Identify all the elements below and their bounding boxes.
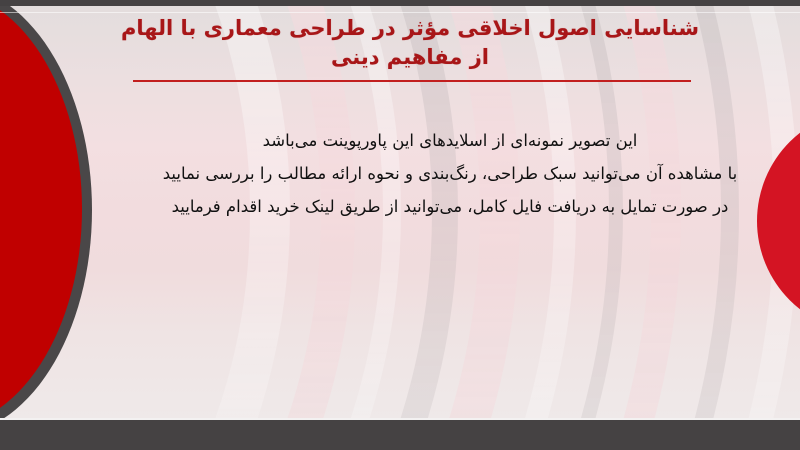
body-line-2: با مشاهده آن می‌توانید سبک طراحی، رنگ‌بن… — [150, 157, 750, 190]
slide-top-frame-band — [0, 0, 800, 6]
slide-bottom-frame-band — [0, 418, 800, 450]
title-line-1: شناسایی اصول اخلاقی مؤثر در طراحی معماری… — [120, 14, 700, 43]
title-line-2: از مفاهیم دینی — [120, 43, 700, 72]
presentation-slide: شناسایی اصول اخلاقی مؤثر در طراحی معماری… — [0, 0, 800, 450]
body-line-1: این تصویر نمونه‌ای از اسلایدهای این پاور… — [150, 124, 750, 157]
slide-body-text: این تصویر نمونه‌ای از اسلایدهای این پاور… — [150, 124, 750, 223]
body-line-3: در صورت تمایل به دریافت فایل کامل، می‌تو… — [150, 190, 750, 223]
slide-title: شناسایی اصول اخلاقی مؤثر در طراحی معماری… — [120, 14, 700, 72]
title-divider-rule — [133, 80, 691, 82]
slide-content-panel: شناسایی اصول اخلاقی مؤثر در طراحی معماری… — [0, 6, 800, 418]
